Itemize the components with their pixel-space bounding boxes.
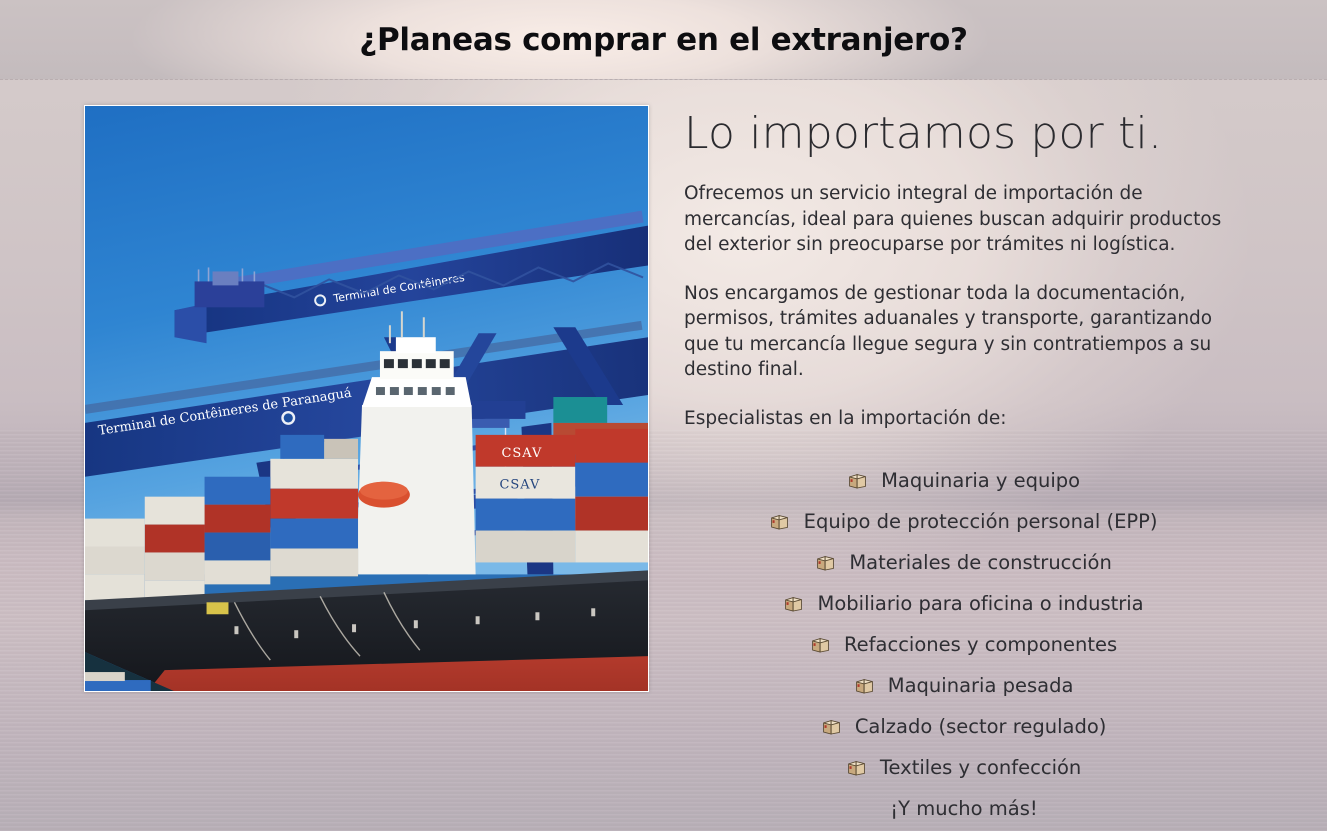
- section-heading: Lo importamos por ti.: [684, 107, 1244, 161]
- category-label: Textiles y confección: [880, 756, 1081, 779]
- package-box-icon: [847, 758, 866, 777]
- package-box-icon: [784, 594, 803, 613]
- category-label: Maquinaria pesada: [888, 674, 1074, 697]
- content-area: Terminal de Contêineres: [0, 80, 1327, 831]
- package-box-icon: [822, 717, 841, 736]
- package-box-glyph: [822, 717, 841, 736]
- package-box-glyph: [848, 471, 867, 490]
- category-label: Materiales de construcción: [849, 551, 1112, 574]
- package-box-icon: [816, 553, 835, 572]
- category-item: Calzado (sector regulado): [684, 706, 1244, 747]
- header-band: ¿Planeas comprar en el extranjero?: [0, 0, 1327, 80]
- package-box-glyph: [811, 635, 830, 654]
- category-item: Maquinaria pesada: [684, 665, 1244, 706]
- slide-root: ¿Planeas comprar en el extranjero?: [0, 0, 1327, 831]
- services-paragraph: Nos encargamos de gestionar toda la docu…: [684, 281, 1236, 383]
- page-title: ¿Planeas comprar en el extranjero?: [0, 0, 1327, 80]
- category-item: Equipo de protección personal (EPP): [684, 501, 1244, 542]
- category-item: Maquinaria y equipo: [684, 460, 1244, 501]
- category-label: Calzado (sector regulado): [855, 715, 1107, 738]
- package-box-icon: [848, 471, 867, 490]
- intro-paragraph: Ofrecemos un servicio integral de import…: [684, 181, 1236, 258]
- package-box-glyph: [770, 512, 789, 531]
- right-text-column: Lo importamos por ti. Ofrecemos un servi…: [684, 107, 1244, 431]
- svg-text:CSAV: CSAV: [502, 446, 543, 461]
- ship-illustration: Terminal de Contêineres: [85, 106, 648, 691]
- category-item: Textiles y confección: [684, 747, 1244, 788]
- category-item: Materiales de construcción: [684, 542, 1244, 583]
- package-box-icon: [811, 635, 830, 654]
- container-ship-photo: Terminal de Contêineres: [84, 105, 649, 692]
- category-label: Maquinaria y equipo: [881, 469, 1080, 492]
- category-label: Refacciones y componentes: [844, 633, 1117, 656]
- svg-text:CSAV: CSAV: [500, 478, 541, 493]
- category-item: Mobiliario para oficina o industria: [684, 583, 1244, 624]
- package-box-icon: [855, 676, 874, 695]
- category-label: Mobiliario para oficina o industria: [818, 592, 1144, 615]
- package-box-glyph: [784, 594, 803, 613]
- package-box-glyph: [847, 758, 866, 777]
- category-label: ¡Y mucho más!: [890, 797, 1037, 820]
- package-box-glyph: [816, 553, 835, 572]
- package-box-icon: [770, 512, 789, 531]
- category-item: ¡Y mucho más!: [684, 788, 1244, 829]
- package-box-glyph: [855, 676, 874, 695]
- specialties-lead: Especialistas en la importación de:: [684, 406, 1236, 432]
- import-categories-list: Maquinaria y equipo Equipo de protección…: [684, 460, 1244, 829]
- category-item: Refacciones y componentes: [684, 624, 1244, 665]
- category-label: Equipo de protección personal (EPP): [804, 510, 1158, 533]
